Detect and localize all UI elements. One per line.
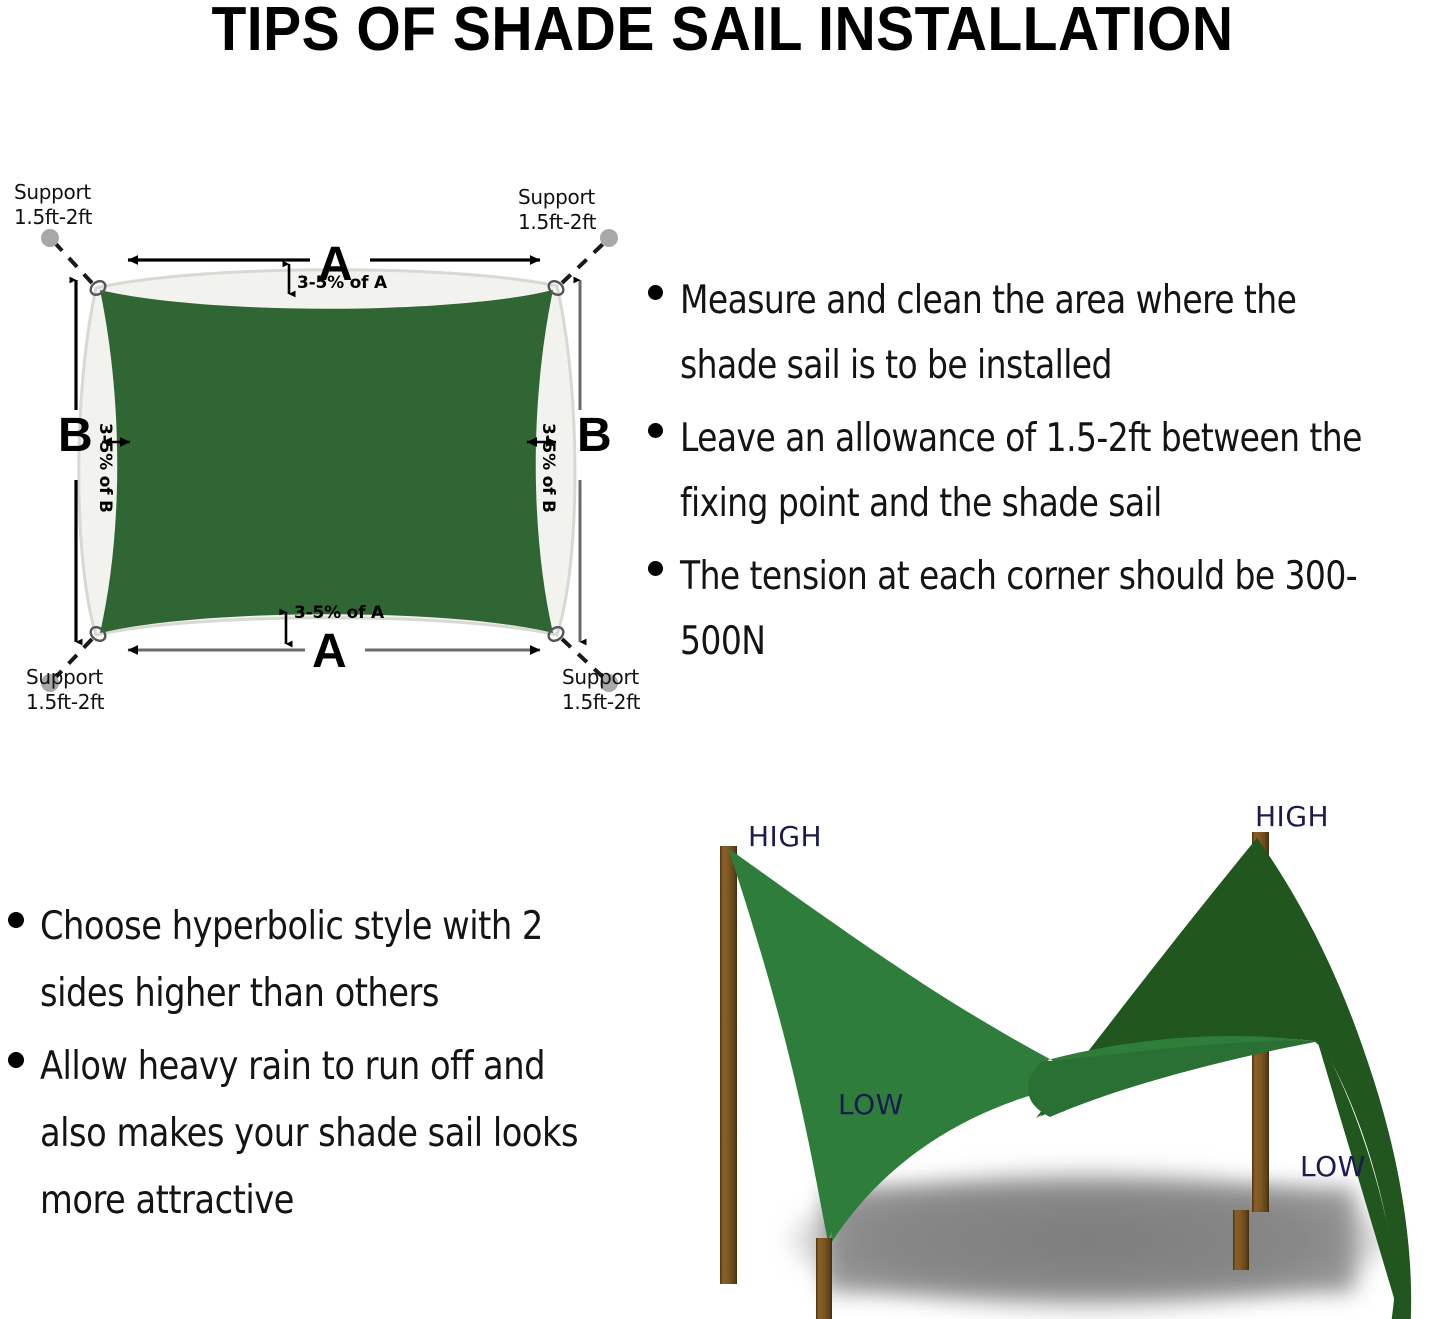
tip-text: Allow heavy rain to run off and also mak… <box>40 1033 609 1234</box>
dimension-label-b-right: B <box>577 412 612 460</box>
tip-text: Choose hyperbolic style with 2 sides hig… <box>40 893 609 1027</box>
label-high-left: HIGH <box>748 820 822 853</box>
bullet-dot-icon <box>648 285 663 300</box>
support-label-value: 1.5ft-2ft <box>14 205 92 229</box>
list-item: Allow heavy rain to run off and also mak… <box>8 1033 633 1234</box>
support-label-text: Support <box>14 180 91 204</box>
support-label-value: 1.5ft-2ft <box>26 690 104 714</box>
label-high-right: HIGH <box>1255 800 1329 833</box>
bullet-dot-icon <box>8 1052 24 1068</box>
bullet-dot-icon <box>648 423 663 438</box>
post-mid-right <box>1233 1210 1249 1270</box>
post-low-left <box>816 1238 832 1319</box>
rectangular-sail-diagram: Support 1.5ft-2ft Support 1.5ft-2ft Supp… <box>0 160 680 730</box>
support-label-top-left: Support 1.5ft-2ft <box>14 180 92 230</box>
support-label-text: Support <box>562 665 639 689</box>
sail-body <box>100 290 553 633</box>
ground-shadow <box>790 1168 1390 1312</box>
list-item: The tension at each corner should be 300… <box>648 544 1445 674</box>
curvature-label-left: 3-5% of B <box>95 423 115 513</box>
list-item: Choose hyperbolic style with 2 sides hig… <box>8 893 633 1027</box>
list-item: Leave an allowance of 1.5-2ft between th… <box>648 406 1445 536</box>
curvature-label-top: 3-5% of A <box>297 273 387 293</box>
installation-tips-list: Measure and clean the area where the sha… <box>648 268 1445 682</box>
hyperbolic-sail-svg <box>620 790 1445 1319</box>
list-item: Measure and clean the area where the sha… <box>648 268 1445 398</box>
curvature-label-bottom: 3-5% of A <box>294 603 384 623</box>
label-low-right: LOW <box>1300 1150 1366 1183</box>
support-label-text: Support <box>518 185 595 209</box>
hyperbolic-tips-list: Choose hyperbolic style with 2 sides hig… <box>8 893 633 1240</box>
tip-text: Leave an allowance of 1.5-2ft between th… <box>680 406 1402 536</box>
tip-text: The tension at each corner should be 300… <box>680 544 1402 674</box>
page-title: TIPS OF SHADE SAIL INSTALLATION <box>58 0 1387 65</box>
hyperbolic-sail-diagram: HIGH HIGH LOW LOW <box>620 790 1445 1319</box>
tip-text: Measure and clean the area where the sha… <box>680 268 1402 398</box>
support-label-text: Support <box>26 665 103 689</box>
post-high-left <box>720 846 737 1284</box>
support-label-value: 1.5ft-2ft <box>518 210 596 234</box>
curvature-label-right: 3-5% of B <box>538 423 558 513</box>
support-label-value: 1.5ft-2ft <box>562 690 640 714</box>
bullet-dot-icon <box>648 561 663 576</box>
support-label-top-right: Support 1.5ft-2ft <box>518 185 596 235</box>
support-label-bottom-left: Support 1.5ft-2ft <box>26 665 104 715</box>
support-label-bottom-right: Support 1.5ft-2ft <box>562 665 640 715</box>
dimension-label-a-bottom: A <box>312 628 347 676</box>
dimension-label-b-left: B <box>58 412 93 460</box>
label-low-left: LOW <box>838 1088 904 1121</box>
bullet-dot-icon <box>8 912 24 928</box>
